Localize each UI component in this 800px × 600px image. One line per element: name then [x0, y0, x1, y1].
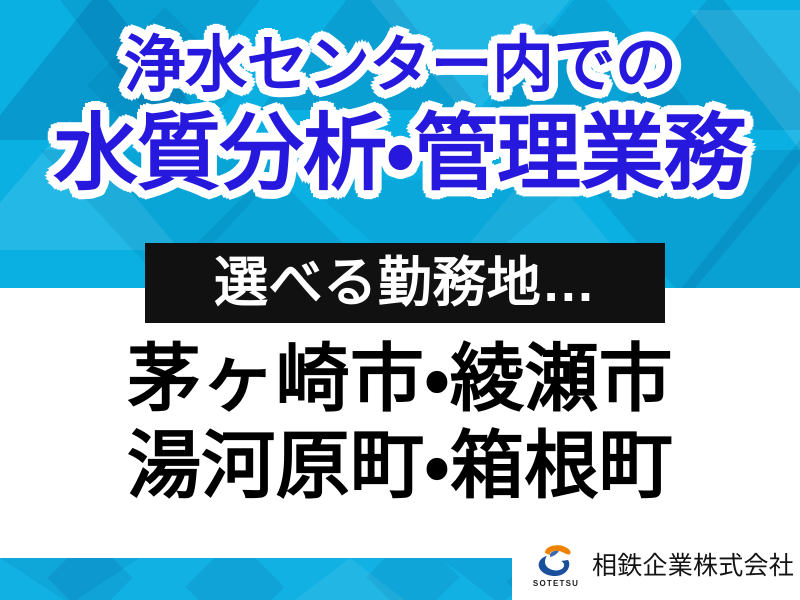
headline-line-2: 水質分析・管理業務 [53, 111, 746, 195]
locations-block: 茅ヶ崎市・綾瀬市 湯河原町・箱根町 [0, 335, 800, 510]
bg-triangle [0, 558, 140, 600]
headline-line-1: 浄水センター内での [124, 35, 676, 97]
job-ad-banner: 浄水センター内での 水質分析・管理業務 選べる勤務地… 茅ヶ崎市・綾瀬市 湯河原… [0, 0, 800, 600]
sotetsu-logo-mark: SOTETSU [530, 543, 582, 591]
headline-block: 浄水センター内での 水質分析・管理業務 [0, 0, 800, 230]
company-name: 相鉄企業株式会社 [592, 554, 794, 579]
sotetsu-s-swoosh-icon [535, 543, 577, 579]
bg-triangle [290, 558, 410, 600]
sotetsu-wordmark: SOTETSU [533, 580, 579, 588]
subheading-banner: 選べる勤務地… [145, 243, 665, 323]
location-line-2: 湯河原町・箱根町 [127, 422, 673, 509]
subheading-text: 選べる勤務地… [214, 256, 596, 310]
bg-diamond [186, 558, 285, 600]
location-line-1: 茅ヶ崎市・綾瀬市 [127, 335, 673, 422]
logo-panel: SOTETSU 相鉄企業株式会社 [512, 533, 800, 600]
